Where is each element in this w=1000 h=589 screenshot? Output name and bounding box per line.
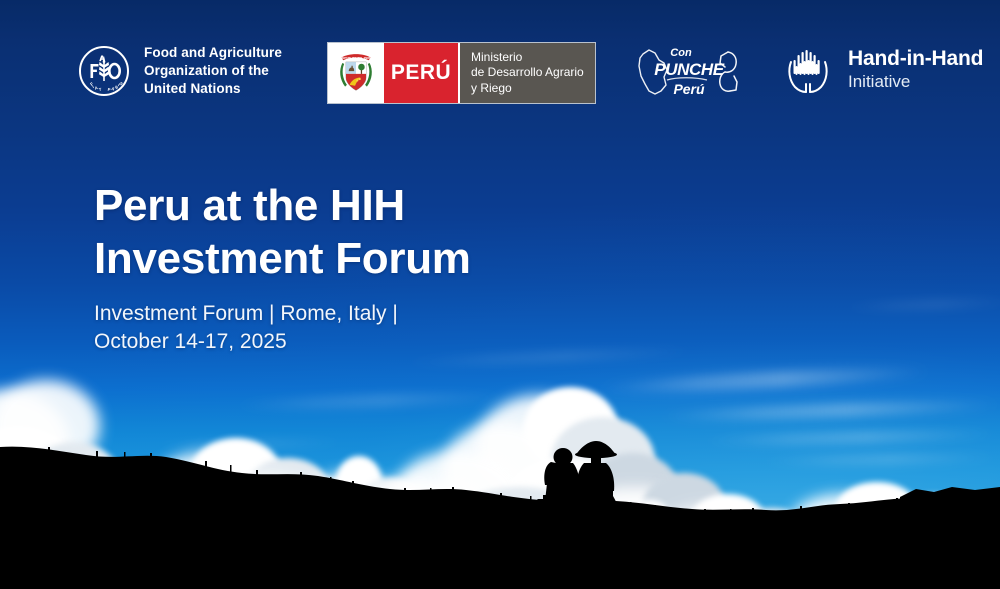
svg-text:T: T xyxy=(99,87,103,92)
hand-in-hand-title: Hand-in-Hand xyxy=(848,47,983,70)
fao-logo-text: Food and Agriculture Organization of the… xyxy=(144,44,282,98)
people-silhouette xyxy=(0,429,1000,589)
hand-in-hand-logo[interactable]: Hand-in-Hand Initiative xyxy=(782,44,983,96)
peru-wordmark: PERÚ xyxy=(384,43,458,103)
headline-block: Peru at the HIH Investment Forum Investm… xyxy=(94,180,654,355)
page-title: Peru at the HIH Investment Forum xyxy=(94,180,654,286)
hand-in-hand-hands-icon xyxy=(782,44,834,96)
svg-text:REPUBLICA DEL PERU: REPUBLICA DEL PERU xyxy=(340,56,371,60)
punche-line2: PUNCHE xyxy=(654,60,724,79)
hand-in-hand-subtitle: Initiative xyxy=(848,71,983,92)
fao-logo[interactable]: F I A T P A N I S Food and Agriculture O… xyxy=(78,44,282,98)
con-punche-peru-logo[interactable]: Con PUNCHE Perú xyxy=(633,38,745,106)
partner-logos-row: F I A T P A N I S Food and Agriculture O… xyxy=(0,0,1000,135)
event-details: Investment Forum | Rome, Italy | October… xyxy=(94,300,654,356)
event-banner: F I A T P A N I S Food and Agriculture O… xyxy=(0,0,1000,589)
con-punche-peru-icon: Con PUNCHE Perú xyxy=(633,38,745,106)
ministry-name-text: Ministerio de Desarrollo Agrario y Riego xyxy=(458,43,595,103)
punche-line3: Perú xyxy=(673,81,705,97)
peru-coat-of-arms-icon: REPUBLICA DEL PERU xyxy=(328,43,384,103)
fao-emblem-icon: F I A T P A N I S xyxy=(78,45,130,97)
peru-ministry-logo[interactable]: REPUBLICA DEL PERU xyxy=(327,42,596,104)
punche-line1: Con xyxy=(670,47,692,59)
